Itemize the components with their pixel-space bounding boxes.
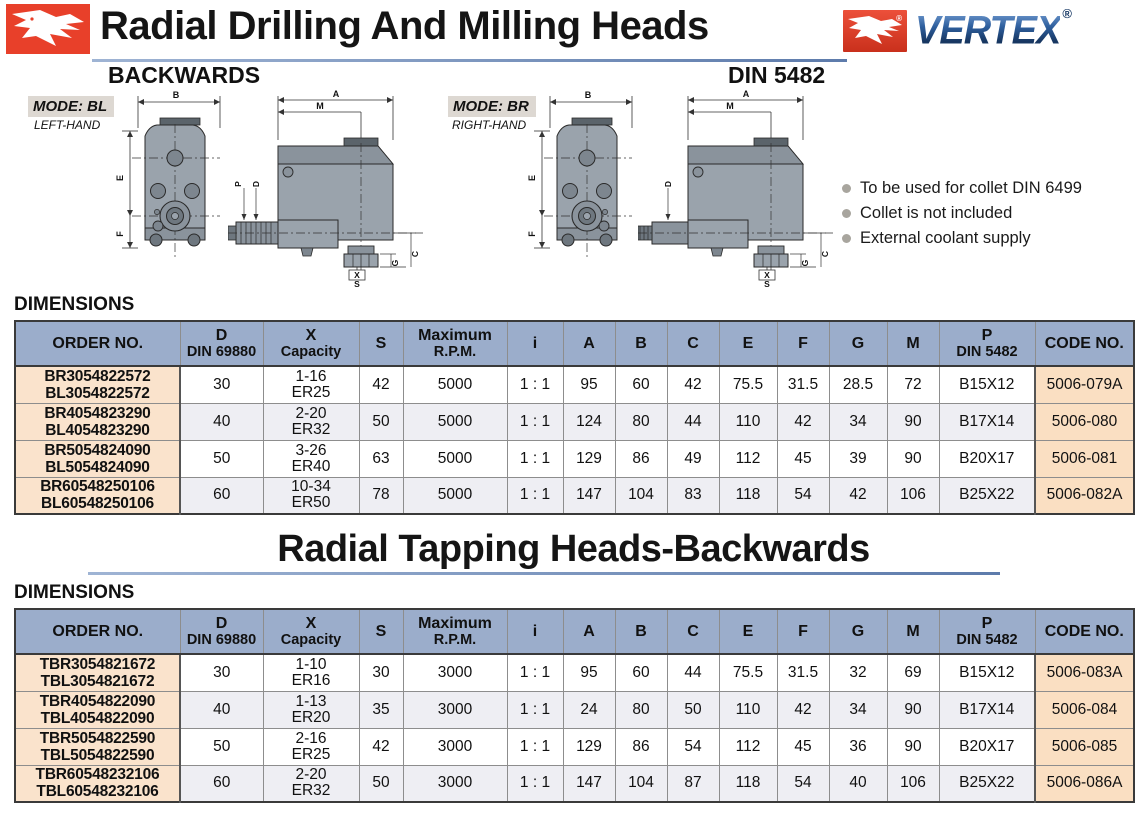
cell-i: 1 : 1 xyxy=(507,403,563,440)
mode-bl-tag: MODE: BL xyxy=(28,96,114,117)
cell-m: 69 xyxy=(887,654,939,691)
note-text: To be used for collet DIN 6499 xyxy=(860,179,1082,198)
col-e: E xyxy=(719,609,777,654)
table-row: TBR3054821672TBL3054821672 30 1-10ER16 3… xyxy=(15,654,1134,691)
svg-text:F: F xyxy=(115,231,125,237)
cell-s: 42 xyxy=(359,366,403,403)
table-header-row: ORDER NO. DDIN 69880 XCapacity S Maximum… xyxy=(15,609,1134,654)
cell-c: 54 xyxy=(667,728,719,765)
cell-p: B17X14 xyxy=(939,403,1035,440)
cell-m: 106 xyxy=(887,765,939,802)
svg-text:M: M xyxy=(726,101,734,111)
col-p: PDIN 5482 xyxy=(939,609,1035,654)
bullet-icon xyxy=(842,184,851,193)
svg-text:B: B xyxy=(585,90,592,100)
cell-c: 44 xyxy=(667,403,719,440)
cell-f: 45 xyxy=(777,440,829,477)
cell-c: 87 xyxy=(667,765,719,802)
cell-p: B20X17 xyxy=(939,728,1035,765)
table-row: TBR5054822590TBL5054822590 50 2-16ER25 4… xyxy=(15,728,1134,765)
svg-text:E: E xyxy=(527,175,537,181)
note-text: External coolant supply xyxy=(860,229,1031,248)
svg-text:C: C xyxy=(820,251,830,257)
cell-a: 95 xyxy=(563,654,615,691)
col-s: S xyxy=(359,609,403,654)
registered-mark: ® xyxy=(1062,6,1072,21)
cell-b: 104 xyxy=(615,765,667,802)
col-a: A xyxy=(563,321,615,366)
cell-s: 78 xyxy=(359,477,403,514)
cell-p: B25X22 xyxy=(939,477,1035,514)
cell-a: 24 xyxy=(563,691,615,728)
col-i: i xyxy=(507,321,563,366)
cell-i: 1 : 1 xyxy=(507,728,563,765)
notes-list: To be used for collet DIN 6499 Collet is… xyxy=(842,176,1142,251)
col-order-no: ORDER NO. xyxy=(15,321,180,366)
cell-f: 42 xyxy=(777,403,829,440)
cell-g: 34 xyxy=(829,403,887,440)
cell-code-no: 5006-086A xyxy=(1035,765,1134,802)
col-code-no: CODE NO. xyxy=(1035,609,1134,654)
cell-b: 80 xyxy=(615,403,667,440)
cell-x-capacity: 1-13ER20 xyxy=(263,691,359,728)
svg-text:D: D xyxy=(251,181,261,187)
cell-a: 129 xyxy=(563,728,615,765)
col-m: M xyxy=(887,321,939,366)
bullet-icon xyxy=(842,209,851,218)
cell-s: 63 xyxy=(359,440,403,477)
col-f: F xyxy=(777,609,829,654)
cell-e: 112 xyxy=(719,728,777,765)
svg-text:P: P xyxy=(233,181,243,187)
svg-text:S: S xyxy=(764,279,770,288)
cell-f: 31.5 xyxy=(777,654,829,691)
col-f: F xyxy=(777,321,829,366)
cell-g: 32 xyxy=(829,654,887,691)
col-s: S xyxy=(359,321,403,366)
col-d: DDIN 69880 xyxy=(180,321,263,366)
cell-order-no: BR3054822572BL3054822572 xyxy=(15,366,180,403)
svg-text:A: A xyxy=(333,89,340,99)
note-text: Collet is not included xyxy=(860,204,1012,223)
cell-d: 60 xyxy=(180,765,263,802)
milling-heads-table: ORDER NO. DDIN 69880 XCapacity S Maximum… xyxy=(14,320,1135,515)
din-standard-label: DIN 5482 xyxy=(728,62,825,89)
cell-s: 50 xyxy=(359,765,403,802)
cell-x-capacity: 1-10ER16 xyxy=(263,654,359,691)
cell-x-capacity: 2-16ER25 xyxy=(263,728,359,765)
cell-e: 75.5 xyxy=(719,366,777,403)
cell-order-no: BR4054823290BL4054823290 xyxy=(15,403,180,440)
cell-s: 35 xyxy=(359,691,403,728)
logo-eagle-icon: ® xyxy=(843,10,907,52)
cell-g: 42 xyxy=(829,477,887,514)
cell-order-no: BR60548250106BL60548250106 xyxy=(15,477,180,514)
cell-m: 90 xyxy=(887,440,939,477)
col-x-capacity: XCapacity xyxy=(263,321,359,366)
cell-rpm: 3000 xyxy=(403,691,507,728)
cell-code-no: 5006-082A xyxy=(1035,477,1134,514)
col-d: DDIN 69880 xyxy=(180,609,263,654)
list-item: External coolant supply xyxy=(842,226,1142,251)
eagle-head-icon xyxy=(6,4,90,54)
cell-f: 45 xyxy=(777,728,829,765)
table-header-row: ORDER NO. DDIN 69880 XCapacity S Maximum… xyxy=(15,321,1134,366)
cell-m: 72 xyxy=(887,366,939,403)
cell-s: 42 xyxy=(359,728,403,765)
cell-code-no: 5006-079A xyxy=(1035,366,1134,403)
list-item: To be used for collet DIN 6499 xyxy=(842,176,1142,201)
svg-text:G: G xyxy=(800,259,810,266)
cell-b: 104 xyxy=(615,477,667,514)
subhead-row: BACKWARDS DIN 5482 xyxy=(0,62,1147,88)
cell-a: 147 xyxy=(563,477,615,514)
cell-i: 1 : 1 xyxy=(507,440,563,477)
cell-f: 54 xyxy=(777,477,829,514)
col-g: G xyxy=(829,609,887,654)
left-hand-label: LEFT-HAND xyxy=(34,118,100,132)
cell-m: 106 xyxy=(887,477,939,514)
cell-d: 50 xyxy=(180,440,263,477)
col-i: i xyxy=(507,609,563,654)
col-max-rpm: MaximumR.P.M. xyxy=(403,609,507,654)
cell-d: 30 xyxy=(180,654,263,691)
cell-i: 1 : 1 xyxy=(507,477,563,514)
cell-f: 31.5 xyxy=(777,366,829,403)
cell-p: B20X17 xyxy=(939,440,1035,477)
cell-order-no: TBR5054822590TBL5054822590 xyxy=(15,728,180,765)
cell-rpm: 3000 xyxy=(403,765,507,802)
cell-b: 86 xyxy=(615,728,667,765)
svg-text:M: M xyxy=(316,101,324,111)
cell-code-no: 5006-080 xyxy=(1035,403,1134,440)
cell-code-no: 5006-081 xyxy=(1035,440,1134,477)
cell-x-capacity: 2-20ER32 xyxy=(263,403,359,440)
cell-i: 1 : 1 xyxy=(507,765,563,802)
cell-x-capacity: 2-20ER32 xyxy=(263,765,359,802)
cell-rpm: 3000 xyxy=(403,654,507,691)
page-title: Radial Drilling And Milling Heads xyxy=(100,0,709,52)
vertex-logo: ® VERTEX ® xyxy=(843,4,1143,58)
cell-p: B15X12 xyxy=(939,366,1035,403)
cell-c: 44 xyxy=(667,654,719,691)
backwards-label: BACKWARDS xyxy=(108,62,260,89)
svg-text:S: S xyxy=(354,279,360,288)
drawing-bl-front-view: B E F xyxy=(108,88,238,288)
section-title-tapping: Radial Tapping Heads-Backwards xyxy=(0,527,1147,571)
col-order-no: ORDER NO. xyxy=(15,609,180,654)
cell-f: 42 xyxy=(777,691,829,728)
cell-c: 50 xyxy=(667,691,719,728)
cell-rpm: 5000 xyxy=(403,366,507,403)
table-row: BR3054822572BL3054822572 30 1-16ER25 42 … xyxy=(15,366,1134,403)
cell-order-no: TBR60548232106TBL60548232106 xyxy=(15,765,180,802)
tapping-heads-table: ORDER NO. DDIN 69880 XCapacity S Maximum… xyxy=(14,608,1135,803)
cell-d: 40 xyxy=(180,403,263,440)
cell-rpm: 3000 xyxy=(403,728,507,765)
col-p: PDIN 5482 xyxy=(939,321,1035,366)
cell-m: 90 xyxy=(887,728,939,765)
col-b: B xyxy=(615,321,667,366)
cell-a: 147 xyxy=(563,765,615,802)
cell-order-no: TBR4054822090TBL4054822090 xyxy=(15,691,180,728)
cell-rpm: 5000 xyxy=(403,403,507,440)
cell-s: 30 xyxy=(359,654,403,691)
col-max-rpm: MaximumR.P.M. xyxy=(403,321,507,366)
svg-text:B: B xyxy=(173,90,180,100)
drawing-br-front-view: B E F xyxy=(520,88,650,288)
cell-b: 60 xyxy=(615,366,667,403)
cell-code-no: 5006-084 xyxy=(1035,691,1134,728)
table-row: BR4054823290BL4054823290 40 2-20ER32 50 … xyxy=(15,403,1134,440)
svg-text:C: C xyxy=(410,251,420,257)
cell-order-no: TBR3054821672TBL3054821672 xyxy=(15,654,180,691)
bullet-icon xyxy=(842,234,851,243)
col-g: G xyxy=(829,321,887,366)
technical-drawings: MODE: BL LEFT-HAND MODE: BR RIGHT-HAND B xyxy=(0,88,1147,294)
table-row: TBR60548232106TBL60548232106 60 2-20ER32… xyxy=(15,765,1134,802)
cell-e: 118 xyxy=(719,477,777,514)
cell-e: 110 xyxy=(719,403,777,440)
logo-registered-dot: ® xyxy=(896,14,902,23)
cell-g: 36 xyxy=(829,728,887,765)
section-divider xyxy=(88,572,1000,575)
drawing-bl-side-view: A M P D xyxy=(228,88,438,288)
cell-e: 112 xyxy=(719,440,777,477)
col-a: A xyxy=(563,609,615,654)
right-hand-label: RIGHT-HAND xyxy=(452,118,526,132)
cell-rpm: 5000 xyxy=(403,477,507,514)
svg-text:A: A xyxy=(743,89,750,99)
dimensions-label-2: DIMENSIONS xyxy=(0,582,1147,604)
cell-code-no: 5006-083A xyxy=(1035,654,1134,691)
col-c: C xyxy=(667,321,719,366)
cell-d: 40 xyxy=(180,691,263,728)
cell-x-capacity: 10-34ER50 xyxy=(263,477,359,514)
cell-b: 80 xyxy=(615,691,667,728)
cell-e: 75.5 xyxy=(719,654,777,691)
cell-c: 42 xyxy=(667,366,719,403)
cell-rpm: 5000 xyxy=(403,440,507,477)
cell-f: 54 xyxy=(777,765,829,802)
cell-order-no: BR5054824090BL5054824090 xyxy=(15,440,180,477)
cell-i: 1 : 1 xyxy=(507,691,563,728)
cell-d: 50 xyxy=(180,728,263,765)
cell-g: 40 xyxy=(829,765,887,802)
cell-g: 28.5 xyxy=(829,366,887,403)
cell-p: B25X22 xyxy=(939,765,1035,802)
cell-a: 124 xyxy=(563,403,615,440)
col-code-no: CODE NO. xyxy=(1035,321,1134,366)
col-b: B xyxy=(615,609,667,654)
dimensions-label-1: DIMENSIONS xyxy=(0,294,1147,316)
col-c: C xyxy=(667,609,719,654)
cell-i: 1 : 1 xyxy=(507,654,563,691)
page-header: Radial Drilling And Milling Heads ® VERT… xyxy=(0,0,1147,62)
cell-b: 60 xyxy=(615,654,667,691)
cell-c: 83 xyxy=(667,477,719,514)
table-row: TBR4054822090TBL4054822090 40 1-13ER20 3… xyxy=(15,691,1134,728)
brand-wordmark: VERTEX xyxy=(915,9,1060,53)
cell-m: 90 xyxy=(887,403,939,440)
cell-e: 110 xyxy=(719,691,777,728)
cell-x-capacity: 3-26ER40 xyxy=(263,440,359,477)
table-row: BR5054824090BL5054824090 50 3-26ER40 63 … xyxy=(15,440,1134,477)
cell-m: 90 xyxy=(887,691,939,728)
cell-d: 60 xyxy=(180,477,263,514)
drawing-br-side-view: A M D xyxy=(638,88,848,288)
cell-b: 86 xyxy=(615,440,667,477)
cell-x-capacity: 1-16ER25 xyxy=(263,366,359,403)
cell-g: 39 xyxy=(829,440,887,477)
col-e: E xyxy=(719,321,777,366)
col-x-capacity: XCapacity xyxy=(263,609,359,654)
cell-g: 34 xyxy=(829,691,887,728)
cell-p: B15X12 xyxy=(939,654,1035,691)
cell-i: 1 : 1 xyxy=(507,366,563,403)
cell-p: B17X14 xyxy=(939,691,1035,728)
cell-e: 118 xyxy=(719,765,777,802)
svg-text:F: F xyxy=(527,231,537,237)
cell-s: 50 xyxy=(359,403,403,440)
svg-text:E: E xyxy=(115,175,125,181)
table-row: BR60548250106BL60548250106 60 10-34ER50 … xyxy=(15,477,1134,514)
col-m: M xyxy=(887,609,939,654)
cell-a: 95 xyxy=(563,366,615,403)
list-item: Collet is not included xyxy=(842,201,1142,226)
svg-text:D: D xyxy=(663,181,673,187)
cell-code-no: 5006-085 xyxy=(1035,728,1134,765)
cell-d: 30 xyxy=(180,366,263,403)
cell-a: 129 xyxy=(563,440,615,477)
cell-c: 49 xyxy=(667,440,719,477)
svg-text:G: G xyxy=(390,259,400,266)
